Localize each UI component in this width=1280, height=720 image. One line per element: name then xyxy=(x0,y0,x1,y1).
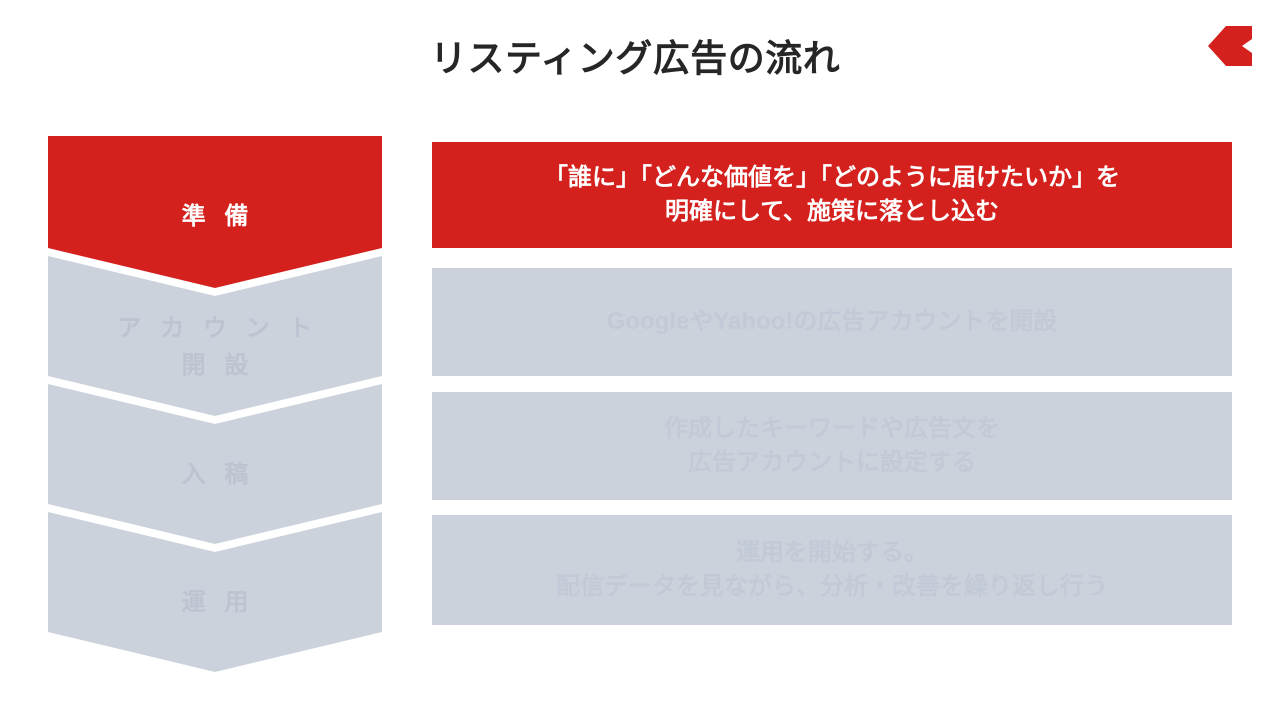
detail-banner-2-line1: 作成したキーワードや広告文を xyxy=(664,412,1000,446)
funnel-step-shape-0 xyxy=(48,136,382,288)
funnel-diagram: 準 備 ア カ ウ ン ト 開 設 入 稿 運 用 xyxy=(48,136,382,676)
detail-banner-0-line2: 明確にして、施策に落とし込む xyxy=(544,195,1120,229)
page-title: リスティング広告の流れ xyxy=(430,38,840,81)
arrow-chevron-logo-icon xyxy=(1206,24,1258,68)
detail-banner-3-line1: 運用を開始する。 xyxy=(556,536,1108,570)
detail-banner-3-line2: 配信データを見ながら、分析・改善を繰り返し行う xyxy=(556,570,1108,604)
detail-banner-2: 作成したキーワードや広告文を 広告アカウントに設定する xyxy=(432,392,1232,500)
detail-banner-3: 運用を開始する。 配信データを見ながら、分析・改善を繰り返し行う xyxy=(432,515,1232,625)
detail-banner-0: 「誰に」「どんな価値を」「どのように届けたいか」を 明確にして、施策に落とし込む xyxy=(432,142,1232,248)
detail-banner-0-line1: 「誰に」「どんな価値を」「どのように届けたいか」を xyxy=(544,161,1120,195)
detail-banner-1-line1: GoogleやYahoo!の広告アカウントを開設 xyxy=(607,305,1058,339)
detail-banner-2-line2: 広告アカウントに設定する xyxy=(664,446,1000,480)
detail-banner-1: GoogleやYahoo!の広告アカウントを開設 xyxy=(432,268,1232,376)
